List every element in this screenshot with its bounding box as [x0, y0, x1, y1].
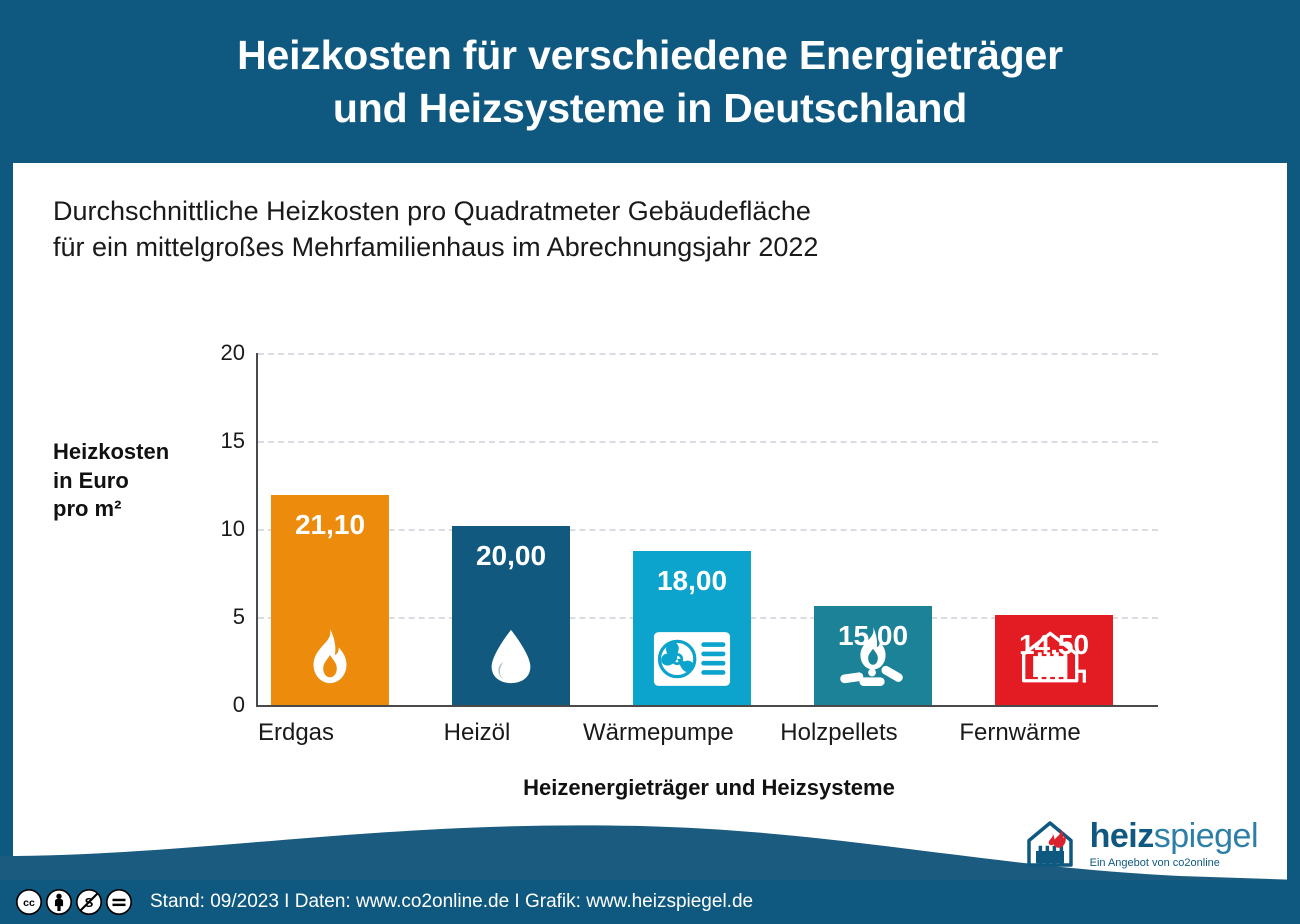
bar-holzpellets[interactable]: 15,00: [814, 606, 932, 705]
wood-pellets-fire-icon: [838, 625, 908, 687]
x-tick-label-fernwaerme: Fernwärme: [945, 719, 1095, 747]
bar-chart: 20 15 10 5 0 Heizkosten in Euro pro m² 2…: [13, 163, 1287, 880]
logo-word-heiz: heiz: [1090, 817, 1154, 855]
x-tick-label-erdgas: Erdgas: [221, 719, 371, 747]
cc-icon[interactable]: cc: [16, 889, 42, 915]
logo-wordmark: heizspiegel Ein Angebot von co2online: [1090, 819, 1258, 869]
bar-waermepumpe[interactable]: 18,00: [633, 551, 751, 705]
x-tick-label-waermepumpe: Wärmepumpe: [583, 719, 733, 747]
logo-word-spiegel: spiegel: [1154, 817, 1258, 855]
logo-tagline: Ein Angebot von co2online: [1090, 858, 1258, 869]
cc-by-icon[interactable]: [46, 889, 72, 915]
flame-icon: [299, 625, 361, 687]
bar-value-waermepumpe: 18,00: [633, 565, 751, 597]
x-tick-label-heizoel: Heizöl: [402, 719, 552, 747]
bars-container: 21,10 20,00 18,00: [258, 338, 1160, 705]
creative-commons-icons[interactable]: cc S: [16, 889, 132, 915]
x-axis-title: Heizenergieträger und Heizsysteme: [258, 775, 1160, 801]
logo-word: heizspiegel: [1090, 819, 1258, 853]
footer-bar: cc S Stand: 09/2023 I Daten: www.co2onli…: [0, 880, 1300, 924]
district-heating-house-radiator-icon: [1018, 629, 1090, 687]
footer-credits: Stand: 09/2023 I Daten: www.co2online.de…: [150, 891, 753, 913]
page-title: Heizkosten für verschiedene Energieträge…: [237, 29, 1063, 134]
bar-heizoel[interactable]: 20,00: [452, 526, 570, 705]
x-tick-label-holzpellets: Holzpellets: [764, 719, 914, 747]
house-radiator-flame-icon: [1022, 816, 1078, 872]
y-tick-label-5: 5: [185, 604, 245, 630]
bar-value-erdgas: 21,10: [271, 509, 389, 541]
cc-nc-icon[interactable]: S: [76, 889, 102, 915]
bar-fernwaerme[interactable]: 14,50: [995, 615, 1113, 705]
y-tick-label-20: 20: [185, 340, 245, 366]
heat-pump-icon: [653, 631, 731, 687]
bar-value-heizoel: 20,00: [452, 540, 570, 572]
svg-text:cc: cc: [23, 897, 35, 909]
y-tick-label-0: 0: [185, 692, 245, 718]
bar-erdgas[interactable]: 21,10: [271, 495, 389, 705]
heizspiegel-logo[interactable]: heizspiegel Ein Angebot von co2online: [1022, 816, 1258, 872]
content-panel: Durchschnittliche Heizkosten pro Quadrat…: [13, 163, 1287, 880]
header-banner: Heizkosten für verschiedene Energieträge…: [0, 0, 1300, 163]
x-axis-line: [256, 705, 1158, 707]
y-axis-title: Heizkosten in Euro pro m²: [53, 438, 243, 524]
oil-drop-icon: [480, 625, 542, 687]
cc-nd-icon[interactable]: [106, 889, 132, 915]
